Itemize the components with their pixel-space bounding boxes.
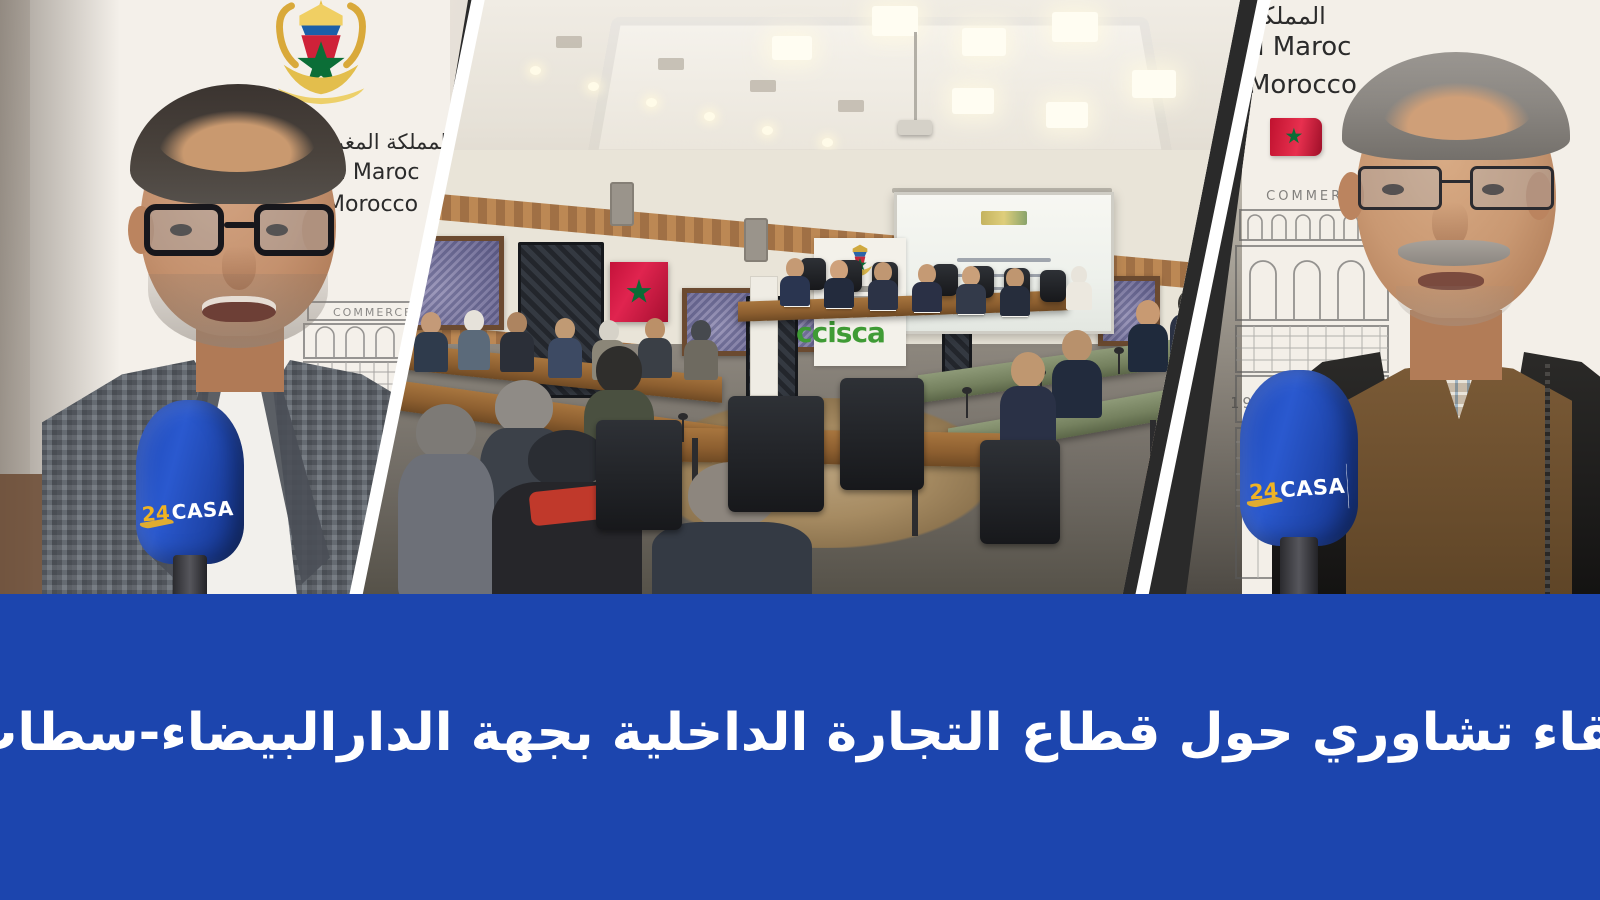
attendee <box>1000 352 1056 448</box>
ceiling-spotlight <box>704 112 715 121</box>
ceiling-light <box>962 28 1006 56</box>
chair <box>1040 270 1066 302</box>
left-person-glasses <box>144 204 334 256</box>
headline-container: لقاء تشاوري حول قطاع التجارة الداخلية بج… <box>0 594 1600 900</box>
official <box>1000 268 1030 314</box>
right-person-hair <box>1342 52 1570 160</box>
ccisca-logo: ccisca <box>796 316 885 349</box>
table-leg <box>1150 420 1156 492</box>
right-person-glasses <box>1358 166 1554 210</box>
microphone-handle <box>1280 537 1318 594</box>
logo-24-text: 24 <box>141 503 170 525</box>
official <box>1066 266 1092 308</box>
wall-speaker <box>744 218 768 262</box>
attendee <box>1052 330 1102 416</box>
ceiling-light <box>772 36 812 60</box>
photo-strip: المملكة المغربية du Maroc Morocco COMMER… <box>0 0 1600 594</box>
ceiling-spotlight <box>530 66 541 75</box>
ceiling-spotlight <box>762 126 773 135</box>
left-person-hair <box>130 84 346 204</box>
chair <box>840 378 924 490</box>
table-microphone <box>1118 352 1120 374</box>
headline-band: لقاء تشاوري حول قطاع التجارة الداخلية بج… <box>0 594 1600 900</box>
panel-center-meeting-room: ccisca <box>352 0 1240 594</box>
wall-flag-display <box>610 262 668 322</box>
jacket-zipper <box>1545 364 1550 594</box>
ceiling-vent <box>658 58 684 70</box>
ceiling-light <box>1052 12 1098 42</box>
ceiling-projector <box>898 120 932 135</box>
ceiling-light <box>1132 70 1176 98</box>
projector-rod <box>914 32 917 124</box>
ceiling-light <box>952 88 994 114</box>
attendee <box>414 312 448 370</box>
wall-speaker <box>610 182 634 226</box>
ceiling-vent <box>556 36 582 48</box>
microphone-handle <box>173 555 208 594</box>
ceiling-vent <box>750 80 776 92</box>
screenshot-root: المملكة المغربية du Maroc Morocco COMMER… <box>0 0 1600 900</box>
slide-text-line <box>957 258 1051 262</box>
chair <box>596 420 682 530</box>
attendee <box>458 310 490 368</box>
chair <box>728 396 824 512</box>
attendee <box>548 318 582 376</box>
casa24-microphone: CASA 24 <box>136 400 244 594</box>
casa24-logo: CASA 24 <box>143 481 237 542</box>
official <box>956 266 986 312</box>
table-microphone <box>682 418 684 442</box>
logo-casa-text: CASA <box>171 498 234 522</box>
ceiling-vent <box>838 100 864 112</box>
attendee <box>500 312 534 370</box>
official <box>824 260 854 306</box>
chair <box>980 440 1060 544</box>
ceiling-light <box>872 6 918 36</box>
ceiling-spotlight <box>646 98 657 107</box>
ceiling-spotlight <box>588 82 599 91</box>
slide-emblem-icon <box>981 211 1027 225</box>
logo-24-text: 24 <box>1249 481 1280 504</box>
headline-text: لقاء تشاوري حول قطاع التجارة الداخلية بج… <box>0 701 1600 766</box>
attendee <box>684 320 718 378</box>
casa24-logo: CASA 24 <box>1248 457 1351 523</box>
left-person-mouth <box>202 296 276 322</box>
official <box>868 262 898 308</box>
foreground-attendee <box>398 404 494 594</box>
ceiling-light <box>1046 102 1088 128</box>
ceiling-spotlight <box>822 138 833 147</box>
attendee <box>1128 300 1168 370</box>
official <box>780 258 810 304</box>
rollup-banner <box>750 276 778 396</box>
table-microphone <box>966 392 968 418</box>
logo-casa-text: CASA <box>1280 476 1346 501</box>
official <box>912 264 942 310</box>
casa24-microphone: CASA 24 <box>1240 370 1358 594</box>
right-person-moustache <box>1398 240 1510 266</box>
